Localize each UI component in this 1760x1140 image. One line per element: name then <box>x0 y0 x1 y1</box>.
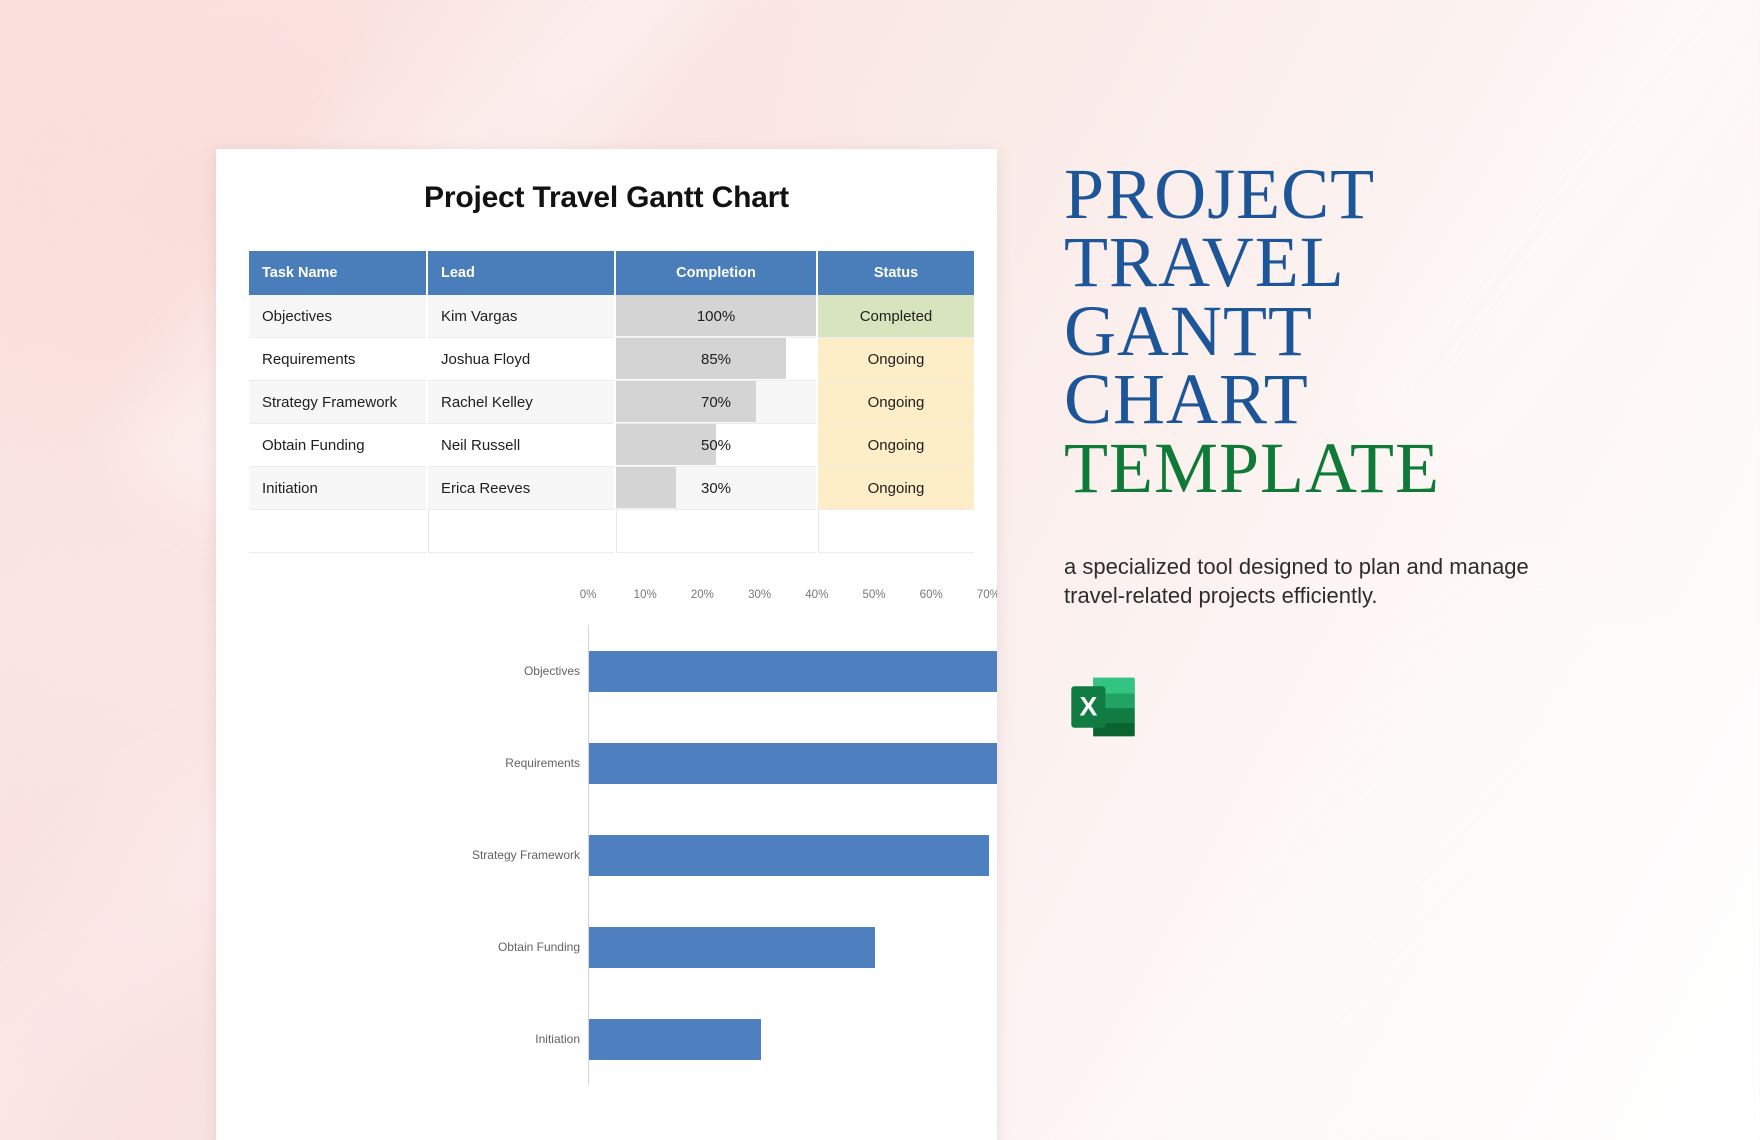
status-badge: Ongoing <box>818 338 974 381</box>
chart-x-tick-label: 20% <box>691 589 714 601</box>
chart-category-label: Obtain Funding <box>498 927 580 968</box>
completion-value: 85% <box>701 351 731 368</box>
gantt-bar-chart: 0%10%20%30%40%50%60%70%80%90%100% Object… <box>216 589 997 1089</box>
completion-value: 100% <box>697 308 735 325</box>
promo-title-line: PROJECT <box>1064 160 1684 228</box>
status-badge: Ongoing <box>818 467 974 510</box>
cell-task-name: Strategy Framework <box>249 381 426 424</box>
chart-bar-row: Objectives <box>589 625 997 717</box>
chart-bar <box>589 651 997 692</box>
completion-databar <box>616 467 676 508</box>
cell-completion: 100% <box>616 295 816 338</box>
promo-title-line: TEMPLATE <box>1064 434 1684 502</box>
chart-bar <box>589 1019 761 1060</box>
chart-bar-row: Obtain Funding <box>589 901 997 993</box>
table-row: ObjectivesKim Vargas100%Completed <box>249 295 974 338</box>
column-header-lead: Lead <box>428 251 614 295</box>
cell-empty <box>818 510 974 553</box>
cell-completion: 50% <box>616 424 816 467</box>
completion-value: 70% <box>701 394 731 411</box>
table-row: Obtain FundingNeil Russell50%Ongoing <box>249 424 974 467</box>
cell-lead: Kim Vargas <box>428 295 614 338</box>
cell-lead: Joshua Floyd <box>428 338 614 381</box>
completion-databar <box>616 381 756 422</box>
table-row: InitiationErica Reeves30%Ongoing <box>249 467 974 510</box>
promo-title-line: CHART <box>1064 365 1684 433</box>
chart-x-tick-label: 40% <box>805 589 828 601</box>
chart-category-label: Initiation <box>535 1019 580 1060</box>
cell-task-name: Requirements <box>249 338 426 381</box>
chart-x-axis: 0%10%20%30%40%50%60%70%80%90%100% <box>588 589 997 611</box>
cell-lead: Erica Reeves <box>428 467 614 510</box>
table-row-empty <box>249 510 974 553</box>
cell-completion: 85% <box>616 338 816 381</box>
chart-category-label: Requirements <box>505 743 580 784</box>
cell-completion: 70% <box>616 381 816 424</box>
promo-panel: PROJECTTRAVELGANTTCHARTTEMPLATE a specia… <box>1064 160 1684 751</box>
promo-title-line: GANTT <box>1064 297 1684 365</box>
chart-x-tick-label: 10% <box>634 589 657 601</box>
chart-x-tick-label: 60% <box>920 589 943 601</box>
chart-category-label: Objectives <box>524 651 580 692</box>
cell-task-name: Objectives <box>249 295 426 338</box>
svg-text:X: X <box>1079 692 1097 722</box>
excel-icon: X <box>1064 668 1142 746</box>
chart-bar-row: Requirements <box>589 717 997 809</box>
cell-task-name: Initiation <box>249 467 426 510</box>
chart-bar <box>589 743 997 784</box>
completion-value: 30% <box>701 480 731 497</box>
table-row: RequirementsJoshua Floyd85%Ongoing <box>249 338 974 381</box>
cell-empty <box>249 510 426 553</box>
table-header-row: Task Name Lead Completion Status <box>249 251 974 295</box>
chart-bar-row: Strategy Framework <box>589 809 997 901</box>
chart-plot-area: ObjectivesRequirementsStrategy Framework… <box>588 625 997 1085</box>
promo-description: a specialized tool designed to plan and … <box>1064 552 1564 610</box>
chart-x-tick-label: 0% <box>580 589 597 601</box>
chart-bar <box>589 835 989 876</box>
column-header-status: Status <box>818 251 974 295</box>
chart-bar <box>589 927 875 968</box>
document-preview: Project Travel Gantt Chart Task Name Lea… <box>216 149 997 1140</box>
cell-task-name: Obtain Funding <box>249 424 426 467</box>
chart-category-label: Strategy Framework <box>472 835 580 876</box>
status-badge: Ongoing <box>818 381 974 424</box>
promo-title: PROJECTTRAVELGANTTCHARTTEMPLATE <box>1064 160 1684 502</box>
chart-x-tick-label: 70% <box>977 589 997 601</box>
cell-completion: 30% <box>616 467 816 510</box>
task-table: Task Name Lead Completion Status Objecti… <box>247 251 976 553</box>
chart-x-tick-label: 50% <box>862 589 885 601</box>
cell-lead: Rachel Kelley <box>428 381 614 424</box>
cell-lead: Neil Russell <box>428 424 614 467</box>
completion-value: 50% <box>701 437 731 454</box>
status-badge: Completed <box>818 295 974 338</box>
table-row: Strategy FrameworkRachel Kelley70%Ongoin… <box>249 381 974 424</box>
chart-bar-row: Initiation <box>589 993 997 1085</box>
column-header-completion: Completion <box>616 251 816 295</box>
status-badge: Ongoing <box>818 424 974 467</box>
cell-empty <box>428 510 614 553</box>
document-title: Project Travel Gantt Chart <box>216 181 997 215</box>
cell-empty <box>616 510 816 553</box>
promo-title-line: TRAVEL <box>1064 228 1684 296</box>
chart-x-tick-label: 30% <box>748 589 771 601</box>
column-header-task-name: Task Name <box>249 251 426 295</box>
